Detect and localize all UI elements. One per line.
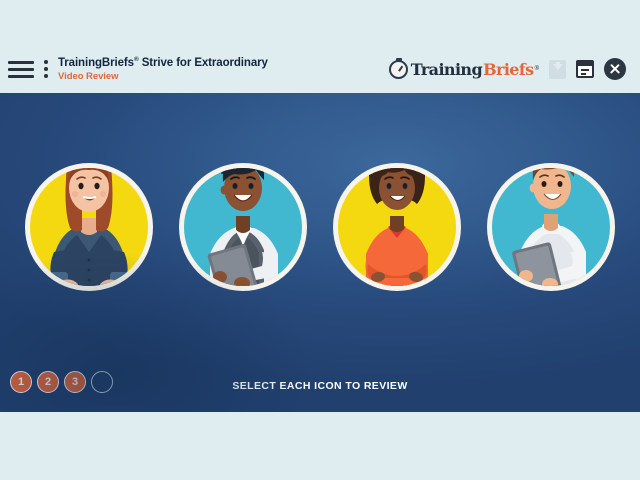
avatar-disc bbox=[492, 168, 610, 286]
stopwatch-icon bbox=[389, 60, 408, 79]
avatar-figure bbox=[30, 134, 148, 294]
page-title: TrainingBriefs® Strive for Extraordinary bbox=[58, 56, 268, 70]
avatar-woman-orange-top[interactable] bbox=[333, 163, 461, 291]
avatar-woman-navy-blouse[interactable] bbox=[25, 163, 153, 291]
notes-line bbox=[581, 73, 586, 75]
kebab-dot bbox=[44, 74, 48, 78]
logo-word-briefs: Briefs bbox=[483, 60, 534, 79]
page-subtitle: Video Review bbox=[58, 72, 268, 83]
instruction-text: SELECT EACH ICON TO REVIEW bbox=[0, 380, 640, 392]
notes-button[interactable] bbox=[576, 60, 594, 78]
header-right-controls: TrainingBriefs® bbox=[389, 58, 640, 80]
hamburger-line bbox=[8, 68, 34, 71]
download-arrow bbox=[553, 64, 563, 70]
header-left-controls: TrainingBriefs® Strive for Extraordinary… bbox=[0, 56, 268, 83]
avatar-disc bbox=[338, 168, 456, 286]
kebab-menu-icon[interactable] bbox=[41, 60, 47, 78]
avatar-disc bbox=[30, 168, 148, 286]
kebab-dot bbox=[44, 67, 48, 71]
avatar-row bbox=[0, 93, 640, 361]
close-button[interactable] bbox=[604, 58, 626, 80]
bottom-band bbox=[0, 412, 640, 480]
top-band bbox=[0, 0, 640, 45]
download-icon bbox=[549, 60, 566, 79]
avatar-figure bbox=[184, 134, 302, 294]
page-title-rest: Strive for Extraordinary bbox=[139, 56, 268, 68]
hamburger-line bbox=[8, 61, 34, 64]
trainingbriefs-logo: TrainingBriefs® bbox=[389, 60, 539, 79]
logo-word-training: Training bbox=[411, 60, 482, 79]
logo-registered-mark: ® bbox=[535, 66, 539, 72]
notes-icon bbox=[576, 60, 594, 78]
player-header: TrainingBriefs® Strive for Extraordinary… bbox=[0, 45, 640, 93]
avatar-figure bbox=[492, 134, 610, 294]
page-title-brand: TrainingBriefs bbox=[58, 56, 134, 68]
avatar-man-gray-vest-tablet[interactable] bbox=[179, 163, 307, 291]
slide-stage: 1 2 3 SELECT EACH ICON TO REVIEW bbox=[0, 93, 640, 412]
avatar-disc bbox=[184, 168, 302, 286]
hamburger-icon[interactable] bbox=[8, 61, 34, 78]
download-button[interactable] bbox=[549, 60, 566, 79]
avatar-figure bbox=[338, 134, 456, 294]
notes-header-bar bbox=[578, 62, 592, 66]
notes-line bbox=[581, 69, 589, 71]
avatar-man-white-shirt-tablet[interactable] bbox=[487, 163, 615, 291]
kebab-dot bbox=[44, 60, 48, 64]
hamburger-line bbox=[8, 75, 34, 78]
header-titles: TrainingBriefs® Strive for Extraordinary… bbox=[58, 56, 268, 83]
course-player: TrainingBriefs® Strive for Extraordinary… bbox=[0, 0, 640, 480]
close-icon bbox=[604, 58, 626, 80]
